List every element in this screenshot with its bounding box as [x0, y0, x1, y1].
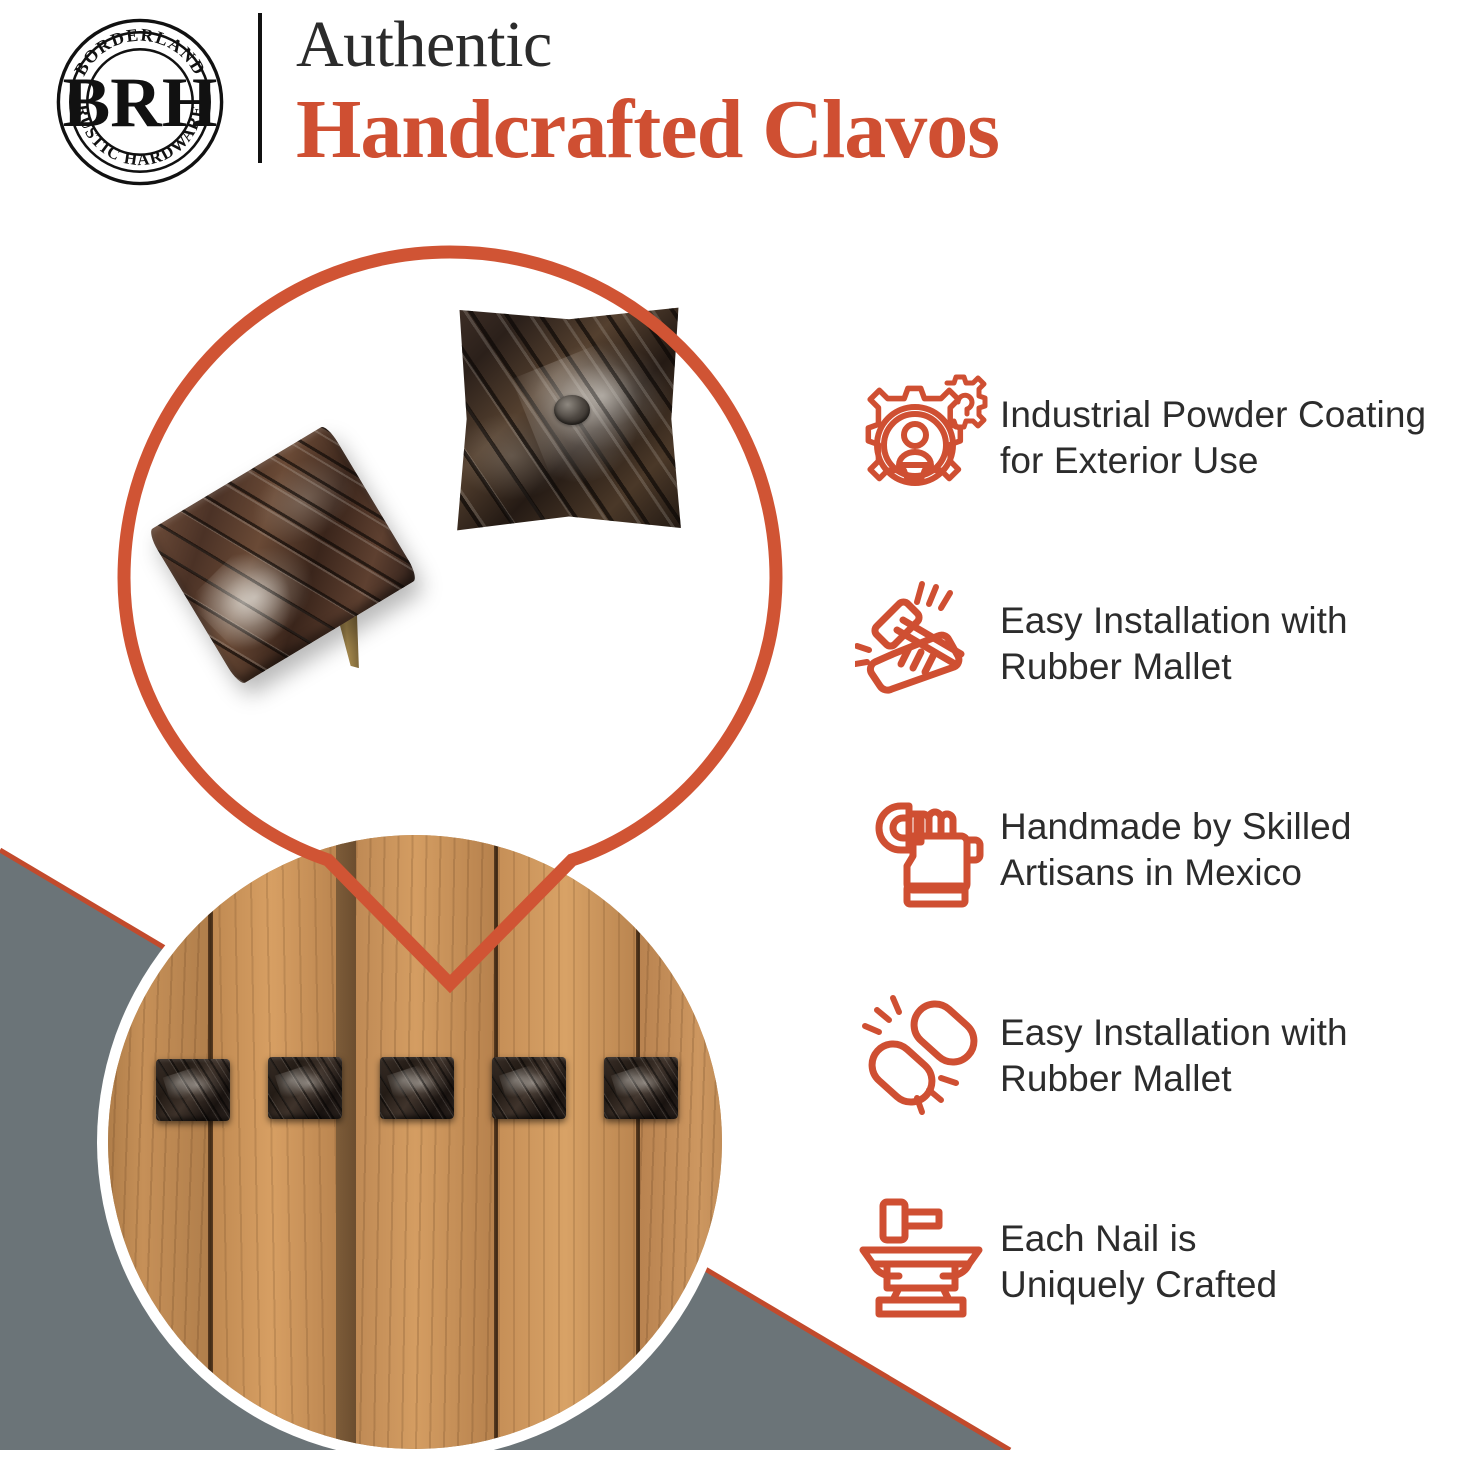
feature-label: Industrial Powder Coating for Exterior U… — [1000, 392, 1426, 484]
installed-clavo — [156, 1059, 230, 1121]
hand-hammer-icon — [850, 574, 1000, 714]
header: BORDERLAND RUSTIC HARDWARE BRH Authentic… — [0, 0, 1477, 190]
installed-clavo — [492, 1057, 566, 1119]
title-line-1: Authentic — [296, 0, 999, 82]
product-photo — [150, 285, 750, 805]
clavo-head-face — [147, 424, 420, 686]
gear-person-icon — [850, 368, 1000, 508]
list-item: Handmade by Skilled Artisans in Mexico — [850, 780, 1470, 920]
feature-label: Each Nail is Uniquely Crafted — [1000, 1216, 1277, 1308]
installed-clavo — [380, 1057, 454, 1119]
list-item: Easy Installation with Rubber Mallet — [850, 574, 1470, 714]
installed-clavo — [604, 1057, 678, 1119]
wood-plank — [498, 835, 638, 1449]
feature-label: Easy Installation with Rubber Mallet — [1000, 598, 1348, 690]
wood-plank-narrow — [336, 835, 358, 1449]
feature-list: Industrial Powder Coating for Exterior U… — [850, 368, 1470, 1332]
feature-label: Handmade by Skilled Artisans in Mexico — [1000, 804, 1352, 896]
installed-clavo — [268, 1057, 342, 1119]
list-item: Industrial Powder Coating for Exterior U… — [850, 368, 1470, 508]
brand-logo: BORDERLAND RUSTIC HARDWARE BRH — [55, 17, 225, 187]
front-facing-square-clavo — [450, 303, 688, 535]
list-item: Easy Installation with Rubber Mallet — [850, 986, 1470, 1126]
anvil-hammer-icon — [850, 1192, 1000, 1332]
header-divider — [258, 13, 262, 163]
list-item: Each Nail is Uniquely Crafted — [850, 1192, 1470, 1332]
tilted-clavo-with-spike — [147, 424, 420, 686]
chain-links-icon — [850, 986, 1000, 1126]
logo-monogram: BRH — [63, 63, 218, 142]
wooden-door-photo — [108, 835, 722, 1449]
wood-plank — [640, 835, 722, 1449]
borderland-rustic-hardware-seal-icon: BORDERLAND RUSTIC HARDWARE BRH — [55, 17, 225, 187]
feature-label: Easy Installation with Rubber Mallet — [1000, 1010, 1348, 1102]
wood-plank — [356, 835, 498, 1449]
wood-plank — [213, 835, 343, 1449]
wood-plank — [108, 835, 210, 1449]
installed-photo-circle — [97, 824, 733, 1460]
clavo-center-boss — [554, 395, 590, 425]
fist-wrench-icon — [850, 780, 1000, 920]
page-title: Authentic Handcrafted Clavos — [296, 0, 999, 178]
title-line-2: Handcrafted Clavos — [296, 82, 999, 178]
